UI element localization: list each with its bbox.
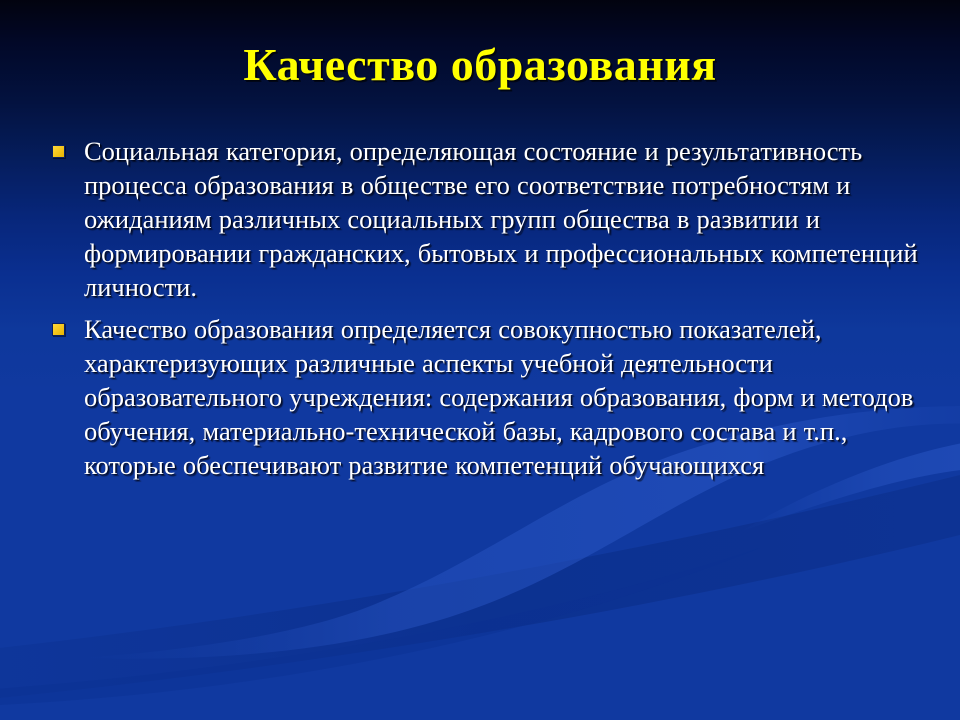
list-item: Качество образования определяется совоку… [52, 312, 932, 482]
list-item-text: Качество образования определяется совоку… [84, 312, 932, 482]
presentation-slide: Качество образования Социальная категори… [0, 0, 960, 720]
slide-body-bullet-list: Социальная категория, определяющая состо… [52, 134, 932, 490]
page-title: Качество образования [243, 38, 716, 92]
slide-title-block: Качество образования [0, 38, 960, 92]
filled-square-bullet-icon [52, 323, 65, 336]
filled-square-bullet-icon [52, 145, 65, 158]
list-item-text: Социальная категория, определяющая состо… [84, 134, 932, 304]
list-item: Социальная категория, определяющая состо… [52, 134, 932, 304]
